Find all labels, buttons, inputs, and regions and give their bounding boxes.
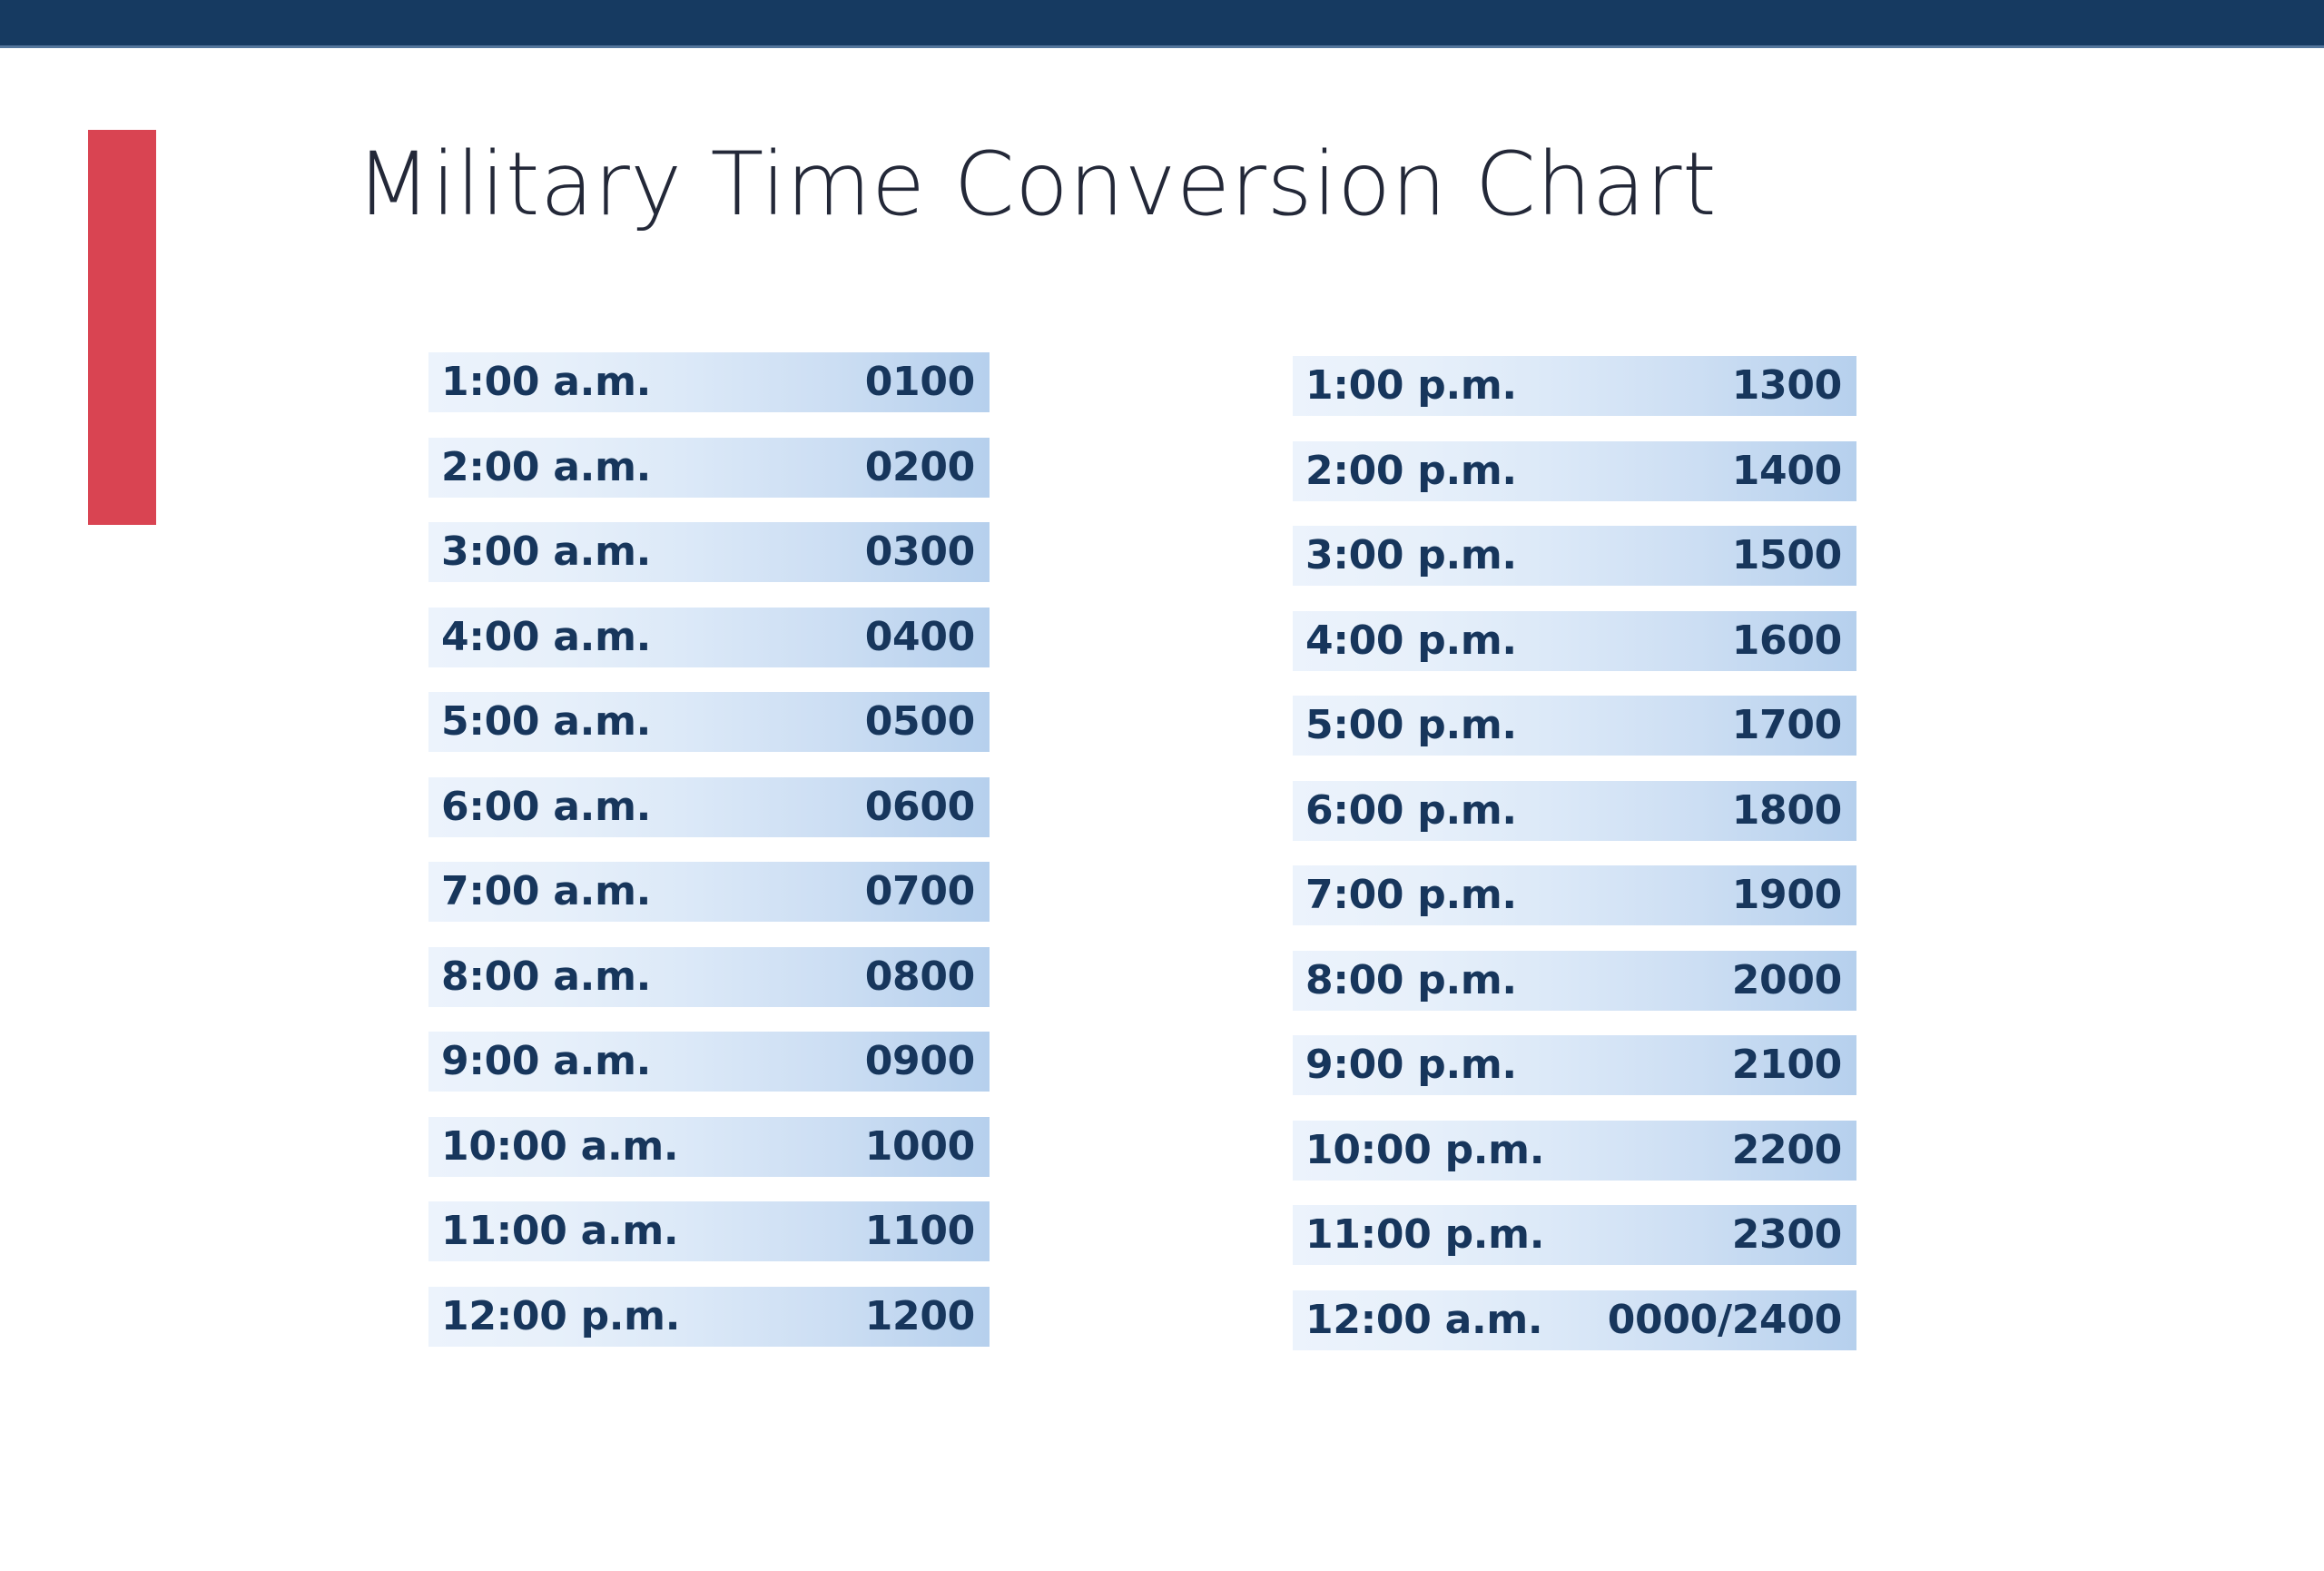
- standard-time-label: 4:00 a.m.: [441, 618, 651, 657]
- military-time-label: 1500: [1732, 536, 1842, 576]
- top-header-bar: [0, 0, 2324, 48]
- military-time-label: 0600: [865, 787, 975, 827]
- standard-time-label: 8:00 p.m.: [1305, 961, 1517, 1001]
- standard-time-label: 1:00 p.m.: [1305, 366, 1517, 406]
- military-time-label: 1400: [1732, 451, 1842, 491]
- standard-time-label: 9:00 a.m.: [441, 1042, 651, 1082]
- table-row: 7:00 a.m.0700: [428, 862, 990, 922]
- red-accent-bar: [88, 130, 156, 525]
- standard-time-label: 6:00 a.m.: [441, 787, 651, 827]
- standard-time-label: 11:00 p.m.: [1305, 1215, 1544, 1255]
- standard-time-label: 2:00 p.m.: [1305, 451, 1517, 491]
- standard-time-label: 8:00 a.m.: [441, 957, 651, 997]
- military-time-label: 0000/2400: [1608, 1300, 1842, 1340]
- table-row: 9:00 a.m.0900: [428, 1032, 990, 1092]
- military-time-label: 2300: [1732, 1215, 1842, 1255]
- am-time-column: 1:00 a.m.01002:00 a.m.02003:00 a.m.03004…: [428, 352, 990, 1347]
- military-time-label: 0500: [865, 702, 975, 742]
- table-row: 12:00 a.m.0000/2400: [1293, 1290, 1856, 1350]
- standard-time-label: 12:00 a.m.: [1305, 1300, 1542, 1340]
- military-time-label: 0200: [865, 448, 975, 488]
- table-row: 12:00 p.m.1200: [428, 1287, 990, 1347]
- military-time-label: 2000: [1732, 961, 1842, 1001]
- table-row: 8:00 p.m.2000: [1293, 951, 1856, 1011]
- standard-time-label: 10:00 p.m.: [1305, 1131, 1544, 1171]
- military-time-label: 1000: [865, 1127, 975, 1167]
- table-row: 3:00 a.m.0300: [428, 522, 990, 582]
- military-time-label: 2200: [1732, 1131, 1842, 1171]
- table-row: 4:00 a.m.0400: [428, 608, 990, 667]
- military-time-label: 0400: [865, 618, 975, 657]
- standard-time-label: 2:00 a.m.: [441, 448, 651, 488]
- standard-time-label: 4:00 p.m.: [1305, 621, 1517, 661]
- table-row: 2:00 a.m.0200: [428, 438, 990, 498]
- military-time-label: 2100: [1732, 1045, 1842, 1085]
- military-time-label: 1600: [1732, 621, 1842, 661]
- military-time-label: 0300: [865, 532, 975, 572]
- military-time-label: 0900: [865, 1042, 975, 1082]
- table-row: 5:00 a.m.0500: [428, 692, 990, 752]
- standard-time-label: 3:00 a.m.: [441, 532, 651, 572]
- table-row: 7:00 p.m.1900: [1293, 865, 1856, 925]
- military-time-label: 1200: [865, 1297, 975, 1337]
- standard-time-label: 12:00 p.m.: [441, 1297, 680, 1337]
- table-row: 3:00 p.m.1500: [1293, 526, 1856, 586]
- military-time-label: 1900: [1732, 875, 1842, 915]
- standard-time-label: 10:00 a.m.: [441, 1127, 678, 1167]
- standard-time-label: 7:00 p.m.: [1305, 875, 1517, 915]
- table-row: 1:00 p.m.1300: [1293, 356, 1856, 416]
- table-row: 2:00 p.m.1400: [1293, 441, 1856, 501]
- military-time-label: 1100: [865, 1211, 975, 1251]
- table-row: 10:00 a.m.1000: [428, 1117, 990, 1177]
- standard-time-label: 5:00 a.m.: [441, 702, 651, 742]
- table-row: 6:00 p.m.1800: [1293, 781, 1856, 841]
- pm-time-column: 1:00 p.m.13002:00 p.m.14003:00 p.m.15004…: [1293, 356, 1856, 1350]
- military-time-label: 0700: [865, 872, 975, 912]
- standard-time-label: 7:00 a.m.: [441, 872, 651, 912]
- standard-time-label: 3:00 p.m.: [1305, 536, 1517, 576]
- standard-time-label: 11:00 a.m.: [441, 1211, 678, 1251]
- page-title: Military Time Conversion Chart: [356, 130, 2081, 239]
- standard-time-label: 9:00 p.m.: [1305, 1045, 1517, 1085]
- table-row: 9:00 p.m.2100: [1293, 1035, 1856, 1095]
- standard-time-label: 1:00 a.m.: [441, 362, 651, 402]
- military-time-label: 1800: [1732, 791, 1842, 831]
- standard-time-label: 6:00 p.m.: [1305, 791, 1517, 831]
- military-time-label: 0100: [865, 362, 975, 402]
- military-time-label: 1300: [1732, 366, 1842, 406]
- table-row: 8:00 a.m.0800: [428, 947, 990, 1007]
- table-row: 6:00 a.m.0600: [428, 777, 990, 837]
- table-row: 1:00 a.m.0100: [428, 352, 990, 412]
- military-time-label: 0800: [865, 957, 975, 997]
- table-row: 5:00 p.m.1700: [1293, 696, 1856, 756]
- military-time-label: 1700: [1732, 706, 1842, 746]
- table-row: 4:00 p.m.1600: [1293, 611, 1856, 671]
- table-row: 10:00 p.m.2200: [1293, 1121, 1856, 1181]
- table-row: 11:00 a.m.1100: [428, 1201, 990, 1261]
- standard-time-label: 5:00 p.m.: [1305, 706, 1517, 746]
- table-row: 11:00 p.m.2300: [1293, 1205, 1856, 1265]
